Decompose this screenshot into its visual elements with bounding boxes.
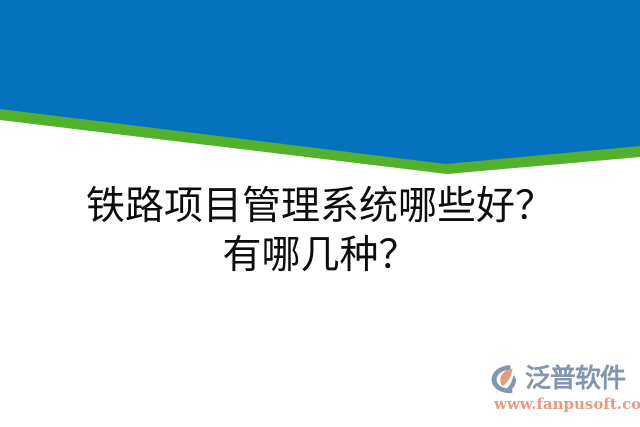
slide-canvas: 铁路项目管理系统哪些好？ 有哪几种？ 泛普软件 www.fanpusoft.co…: [0, 0, 640, 427]
brand-lockup: 泛普软件: [490, 361, 625, 397]
brand-url: www.fanpusoft.com: [494, 395, 640, 413]
brand-wordmark: 泛普软件: [525, 364, 625, 394]
decorative-chevron-banner: [0, 0, 640, 180]
page-title-line-1: 铁路项目管理系统哪些好？: [0, 182, 640, 231]
page-title: 铁路项目管理系统哪些好？ 有哪几种？: [0, 182, 640, 280]
page-title-line-2: 有哪几种？: [0, 231, 640, 280]
fanpu-leaf-logo-icon: [490, 363, 524, 395]
banner-blue-shape: [0, 0, 640, 164]
brand-watermark: 泛普软件 www.fanpusoft.com: [490, 361, 632, 419]
